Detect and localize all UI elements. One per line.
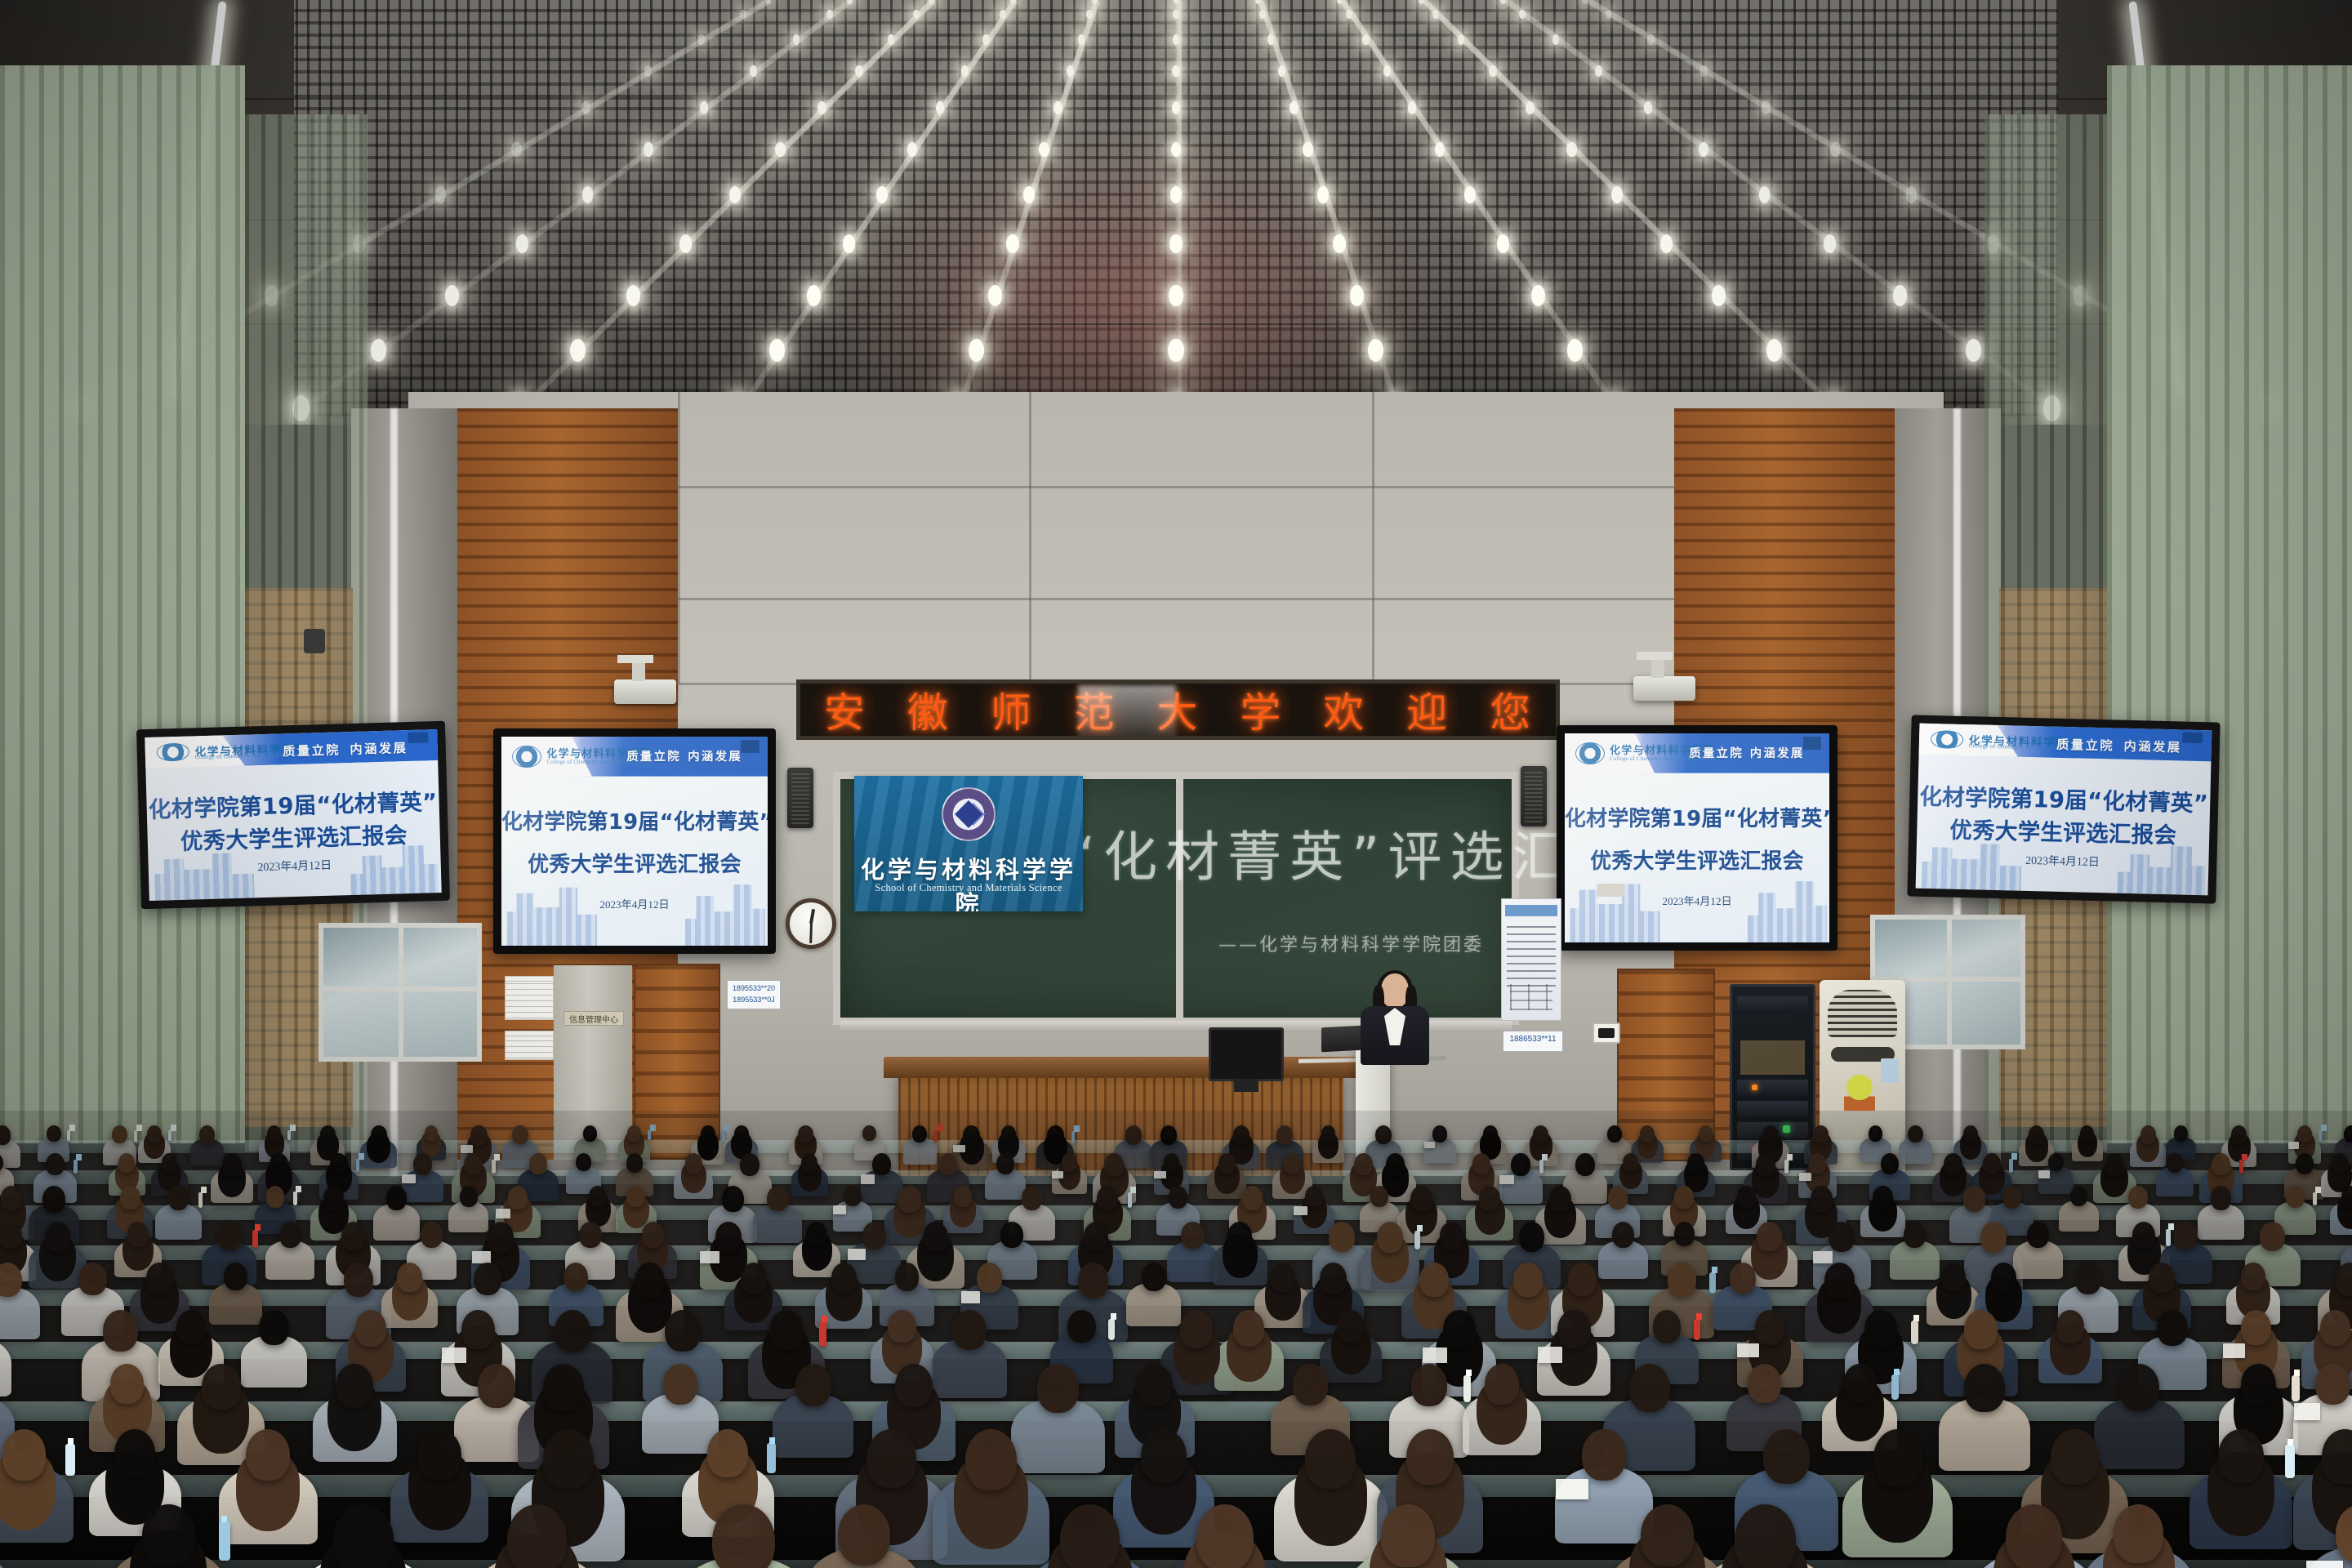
audience-member-head	[46, 1153, 65, 1175]
audience-member-head	[576, 1153, 591, 1171]
audience-member-head	[1419, 1263, 1449, 1297]
audience-member-head	[635, 1263, 665, 1298]
audience-member-head	[507, 1504, 567, 1568]
audience-member-head	[1904, 1222, 1926, 1248]
ceiling-lamp	[1489, 65, 1496, 77]
audience-member-head	[2002, 1186, 2021, 1209]
ceiling-lamp	[793, 34, 800, 45]
clock-hour-hand	[809, 909, 815, 924]
audience-member-head	[1305, 1429, 1356, 1489]
audience-member-head	[2241, 1263, 2265, 1290]
audience-member-head	[45, 1222, 71, 1252]
ceiling-lamp	[729, 186, 741, 203]
audience-member-head	[2, 1429, 46, 1481]
ceiling-lamp	[1317, 186, 1329, 203]
ceiling-lamp	[1078, 34, 1085, 45]
audience-member-head	[740, 1153, 759, 1176]
ceiling-lamp	[511, 142, 521, 157]
audience-member-head	[1668, 1263, 1697, 1297]
ceiling-lamp	[1086, 10, 1092, 19]
ceiling-warm-reflection	[800, 114, 1470, 425]
department-banner-chinese: 化学与材料科学学院	[854, 851, 1083, 911]
audience-member-head	[626, 1153, 643, 1173]
audience-member-head	[2341, 1186, 2352, 1208]
audience-member-head	[1485, 1364, 1520, 1405]
ceiling-lamp	[1172, 65, 1179, 77]
ceiling-lamp	[1699, 142, 1708, 157]
audience-member-head	[1218, 1153, 1236, 1174]
phone-sign-left-line1: 1895533**20	[733, 984, 775, 992]
audience-member-head	[1022, 1186, 1043, 1210]
ceiling-lamp	[626, 285, 640, 306]
audience-member-head	[2297, 1125, 2312, 1143]
ceiling-lamp	[1606, 10, 1611, 19]
audience-member-head	[722, 1186, 744, 1212]
display-right-monitor[interactable]: 化学与材料科学学院 College of Chemistry and Mater…	[1907, 715, 2220, 903]
water-bottle	[293, 1192, 297, 1205]
water-bottle	[168, 1130, 171, 1141]
audience-member-head	[2167, 1153, 2183, 1173]
audience-member-head	[954, 1186, 972, 1207]
audience-member-head	[1983, 1153, 2001, 1174]
slide-header-chip	[408, 732, 428, 743]
display-right-projection[interactable]: 化学与材料科学学院 College of Chemistry and Mater…	[1557, 725, 1837, 951]
audience-member-head	[589, 1186, 607, 1207]
audience-member-head	[862, 1125, 875, 1141]
slide-title-line2: 优秀大学生评选汇报会	[1917, 811, 2210, 851]
audience-member-head	[2332, 1153, 2349, 1173]
water-bottle	[2239, 1160, 2243, 1174]
audience-member-head	[712, 1504, 774, 1568]
audience-member-head	[1305, 1186, 1324, 1207]
wall-speaker-right	[1521, 766, 1547, 826]
audience-member-head	[266, 1186, 285, 1208]
led-scrolling-sign: 安 徽 师 范 大 学 欢 迎 您	[796, 679, 1560, 740]
audience-member-head	[259, 1310, 288, 1345]
ceiling-lamp	[1368, 339, 1383, 363]
projector-right	[1633, 676, 1695, 701]
display-left-monitor[interactable]: 化学与材料科学学院 College of Chemistry and Mater…	[136, 721, 450, 909]
audience-member-head	[2105, 1153, 2124, 1176]
audience-member-head	[267, 1125, 281, 1142]
audience-member-head	[118, 1153, 135, 1173]
ceiling-lamp	[1531, 285, 1545, 306]
audience-member-head	[1233, 1125, 1250, 1145]
wall-speaker-left	[787, 768, 813, 828]
audience-member-head	[555, 1310, 590, 1352]
audience-member-head	[707, 1429, 749, 1477]
audience-member-head	[461, 1310, 495, 1349]
audience-member-head	[2070, 1186, 2088, 1206]
audience-member-head	[168, 1186, 189, 1210]
audience-member-head	[1640, 1125, 1655, 1143]
ceiling-lamp	[907, 142, 917, 157]
audience-member-head	[78, 1263, 106, 1295]
water-bottle	[1071, 1131, 1075, 1143]
department-banner: 化学与材料科学学院 School of Chemistry and Materi…	[854, 776, 1083, 911]
audience-member-head	[1406, 1429, 1454, 1485]
audience-member-head	[898, 1186, 921, 1213]
audience-member-head	[110, 1364, 144, 1404]
audience-member-head	[1762, 1125, 1779, 1145]
ceiling-lamp	[1168, 339, 1183, 363]
audience-member-head	[1293, 1364, 1328, 1405]
audience-member-head	[795, 1364, 831, 1406]
ac-plant-sticker-icon	[1844, 1075, 1875, 1111]
blackboard-chalk-subtitle: ——化学与材料科学学院团委	[1218, 930, 1484, 956]
phone-sign-right: 1886533**11	[1503, 1031, 1563, 1052]
audience-member-head	[162, 1153, 178, 1172]
slide-header-chip	[1803, 737, 1822, 751]
audience-member-head	[715, 1222, 742, 1252]
water-bottle	[2285, 1445, 2295, 1479]
slide-logo-icon	[512, 746, 541, 768]
ceiling-lamp	[913, 10, 919, 19]
audience-member-head	[417, 1429, 461, 1481]
audience-member-head	[543, 1364, 584, 1411]
audience-member-head	[1641, 1504, 1694, 1566]
audience-member-head	[2211, 1186, 2231, 1210]
audience-member-head	[1756, 1153, 1775, 1176]
audience-member-head	[963, 1125, 980, 1145]
audience-member-head	[2056, 1310, 2085, 1343]
audience-member-head	[488, 1222, 514, 1253]
slide-header-chip	[741, 740, 759, 754]
ceiling-lamp	[1000, 10, 1005, 19]
phone-sign-left: 1895533**20 1895533**0J	[727, 980, 781, 1009]
slide-title-line1: 化材学院第19届“化材菁英”	[501, 805, 768, 835]
audience-member-head	[323, 1186, 345, 1210]
slide-header-slogan-1: 质量立院	[2056, 735, 2115, 755]
water-bottle	[65, 1444, 75, 1476]
audience-member-head	[1963, 1125, 1978, 1143]
audience-member-head	[1881, 1153, 1899, 1174]
column-speaker-left	[304, 629, 325, 653]
audience-member-head	[279, 1222, 301, 1248]
water-bottle	[1108, 1319, 1114, 1339]
desk-monitor[interactable]	[1209, 1027, 1284, 1081]
audience-member-head	[1001, 1125, 1016, 1143]
audience-member-head	[888, 1310, 915, 1343]
audience-member-head	[1964, 1310, 1998, 1349]
audience-member-head	[1483, 1125, 1498, 1143]
curtain-left	[0, 65, 245, 1143]
audience-member-head	[478, 1364, 515, 1408]
water-bottle	[134, 1130, 137, 1142]
audience-member-head	[202, 1364, 241, 1410]
handout-paper	[2223, 1343, 2245, 1358]
audience-member-head	[2029, 1125, 2044, 1144]
water-bottle	[2009, 1159, 2013, 1172]
department-seal-icon	[942, 787, 996, 841]
audience-member-head	[1653, 1310, 1682, 1343]
audience-member-head	[701, 1125, 715, 1143]
ceiling-lamp	[1567, 339, 1583, 363]
handout-paper	[2288, 1142, 2299, 1149]
ceiling-lamp	[876, 186, 888, 203]
audience-member-head	[386, 1186, 408, 1210]
led-sign-glare	[1078, 685, 1176, 740]
display-left-projection[interactable]: 化学与材料科学学院 College of Chemistry and Mater…	[493, 728, 776, 954]
slide-title-line1: 化材学院第19届“化材菁英”	[1565, 802, 1829, 832]
handout-paper	[1813, 1251, 1832, 1263]
audience-member-head	[767, 1186, 789, 1211]
water-bottle	[1911, 1321, 1918, 1344]
ceiling-lamp	[1830, 142, 1840, 157]
water-bottle	[1539, 1160, 1543, 1174]
audience-member-head	[1674, 1186, 1694, 1209]
audience-member-head	[512, 1125, 528, 1144]
audience-member-head	[344, 1263, 373, 1297]
ceiling-lamp	[1006, 234, 1018, 253]
ceiling-lamp	[644, 142, 653, 157]
audience-member-head	[838, 1504, 890, 1566]
audience-member-head	[1386, 1153, 1405, 1175]
ceiling-lamp	[1170, 186, 1182, 203]
water-bottle	[73, 1160, 78, 1174]
audience-member-head	[2260, 1222, 2284, 1251]
audience-member-head	[2075, 1263, 2102, 1294]
handout-paper	[1423, 1347, 1447, 1363]
ceiling-lamp	[679, 234, 692, 253]
water-bottle	[1709, 1272, 1716, 1294]
audience-member-head	[47, 1125, 60, 1142]
water-bottle	[198, 1192, 203, 1208]
ac-grille	[1828, 990, 1897, 1037]
ceiling-lamp	[775, 142, 785, 157]
water-bottle	[2292, 1375, 2299, 1401]
ceiling-lamp	[1906, 186, 1918, 203]
audience-member-head	[142, 1504, 195, 1566]
audience-member-head	[508, 1186, 528, 1209]
audience-member-head	[114, 1429, 155, 1477]
audience-member-head	[1137, 1364, 1173, 1406]
audience-member-head	[1687, 1153, 1704, 1173]
audience-member-head	[1674, 1222, 1695, 1246]
audience-member-head	[543, 1429, 594, 1489]
water-bottle	[934, 1130, 938, 1142]
audience-member-head	[1991, 1263, 2016, 1293]
water-bottle	[1784, 1160, 1788, 1174]
audience-member-head	[336, 1364, 373, 1408]
audience-member-head	[1513, 1263, 1543, 1297]
handout-paper	[848, 1249, 866, 1260]
audience-member-head	[1864, 1310, 1896, 1347]
ceiling-lamp	[1566, 142, 1576, 157]
handout-paper	[861, 1174, 875, 1183]
ceiling-lamp	[445, 285, 459, 306]
audience-member-head	[1227, 1222, 1252, 1250]
audience-member-head	[1125, 1125, 1142, 1145]
window-left	[318, 923, 482, 1062]
audience-member-head	[1511, 1153, 1530, 1176]
audience-member-head	[862, 1222, 886, 1249]
handout-paper	[2306, 1561, 2343, 1568]
ac-badge	[1881, 1058, 1899, 1083]
audience-member-head	[1078, 1263, 1109, 1298]
ceiling-lamp	[1350, 285, 1364, 306]
audience-member-head	[127, 1222, 149, 1247]
water-bottle	[287, 1130, 291, 1141]
water-bottle	[819, 1321, 826, 1347]
ceiling-lamp	[1712, 285, 1726, 306]
ceiling-lamp	[1611, 186, 1623, 203]
audience-member-head	[1320, 1263, 1347, 1294]
audience-member-head	[1607, 1125, 1622, 1143]
audience-member-head	[1519, 1222, 1545, 1252]
phone-sign-left-line2: 1895533**0J	[733, 996, 775, 1004]
slide-header-chip	[2182, 733, 2203, 744]
audience-member-head	[1321, 1125, 1336, 1143]
audience-member-head	[1735, 1504, 1796, 1568]
audience-member-head	[320, 1125, 336, 1143]
slide-logo-icon	[1575, 742, 1605, 764]
audience-member-head	[872, 1153, 891, 1175]
ceiling-lamp	[988, 285, 1002, 306]
audience-member-head	[1824, 1263, 1855, 1298]
curtain-right	[2107, 65, 2352, 1143]
audience-member-head	[583, 1125, 597, 1142]
water-bottle	[767, 1443, 776, 1473]
audience-member-head	[626, 1186, 644, 1207]
audience-member-head	[1097, 1186, 1118, 1210]
audience-member-head	[952, 1310, 986, 1350]
audience-member-head	[1084, 1222, 1108, 1250]
paper-notice-left-lower	[505, 1031, 554, 1060]
water-bottle	[356, 1159, 360, 1172]
audience-member-head	[176, 1310, 206, 1344]
audience-member-head	[397, 1263, 422, 1292]
ceiling-lamp	[1893, 285, 1907, 306]
audience-seating	[0, 1111, 2352, 1568]
audience-member-head	[222, 1153, 241, 1176]
ceiling-lamp	[1023, 186, 1035, 203]
water-bottle	[2313, 1192, 2317, 1206]
audience-member-head	[563, 1263, 588, 1291]
lecture-hall-photo: 安 徽 师 范 大 学 欢 迎 您 第19届“化材菁英”评选汇报会 ——化学与材…	[0, 0, 2352, 1568]
notice-board-right	[1501, 898, 1561, 1021]
projector-left	[614, 679, 676, 704]
audience-member-head	[474, 1263, 501, 1295]
audience-member-head	[1142, 1263, 1166, 1291]
audience-member-head	[1276, 1125, 1294, 1145]
audience-member-head	[1037, 1364, 1079, 1413]
card-reader-right[interactable]	[1592, 1022, 1620, 1044]
audience-member-head	[103, 1310, 138, 1352]
slide-header-slogan-2: 内涵发展	[1750, 744, 1805, 761]
audience-member-head	[0, 1125, 11, 1145]
audience-member-head	[1432, 1125, 1447, 1143]
audience-member-head	[1549, 1186, 1572, 1212]
audience-member-head	[1873, 1429, 1922, 1487]
ceiling-lamp	[1824, 234, 1836, 253]
audience-member-head	[1472, 1153, 1490, 1174]
audience-member-head	[1169, 1186, 1188, 1209]
wall-sensor-right	[1597, 884, 1624, 897]
audience-member-head	[2051, 1429, 2098, 1485]
audience-member-head	[977, 1263, 1002, 1293]
ceiling-lamp	[371, 339, 386, 363]
slide-title-line2: 优秀大学生评选汇报会	[147, 816, 440, 857]
audience-member-head	[2320, 1310, 2350, 1346]
water-bottle	[1694, 1319, 1700, 1340]
audience-member-head	[421, 1222, 443, 1248]
handout-paper	[1052, 1171, 1063, 1178]
ceiling-lamp	[982, 34, 989, 45]
audience-member-head	[866, 1429, 916, 1488]
audience-member-head	[1811, 1186, 1833, 1212]
audience-member-head	[1141, 1429, 1187, 1482]
handout-paper	[700, 1251, 719, 1263]
audience-member-head	[2080, 1125, 2094, 1142]
audience-member-head	[2048, 1153, 2064, 1171]
audience-member-head	[938, 1153, 957, 1175]
slide-title-line2: 优秀大学生评选汇报会	[1565, 844, 1829, 875]
clock-minute-hand	[809, 924, 813, 943]
audience-member-head	[806, 1222, 827, 1246]
audience-member-head	[1242, 1186, 1263, 1210]
audience-member-head	[1869, 1125, 1882, 1142]
ceiling-lamp	[843, 234, 855, 253]
ceiling-lamp	[855, 65, 862, 77]
ceiling-lamp	[570, 339, 586, 363]
audience-member-head	[333, 1504, 394, 1568]
handout-paper	[1556, 1479, 1588, 1500]
door-plate-left: 信息管理中心	[563, 1011, 624, 1026]
audience-member-head	[663, 1364, 697, 1405]
audience-member-head	[1737, 1186, 1756, 1208]
audience-member-head	[844, 1186, 862, 1206]
ceiling-lamp	[1362, 34, 1369, 45]
audience-member-head	[341, 1222, 366, 1250]
audience-member-head	[217, 1222, 242, 1250]
audience-member-head	[1755, 1310, 1784, 1345]
wall-clock	[786, 898, 836, 949]
audience-member-head	[1623, 1153, 1638, 1172]
slide-title-line2: 优秀大学生评选汇报会	[501, 848, 768, 878]
audience-member-head	[741, 1263, 767, 1294]
audience-member-head	[1608, 1186, 1628, 1209]
audience-member-head	[1908, 1125, 1922, 1143]
audience-member-head	[2231, 1125, 2247, 1144]
ceiling-lamp	[1552, 34, 1559, 45]
slide-header-slogan-1: 质量立院	[626, 747, 681, 764]
audience-member-head	[1181, 1222, 1204, 1249]
handout-paper	[1294, 1206, 1307, 1215]
ceiling-lamp	[1660, 234, 1673, 253]
audience-member-head	[147, 1125, 162, 1143]
audience-member-head	[371, 1125, 387, 1144]
ceiling-lamp	[1435, 142, 1445, 157]
audience-member-head	[1557, 1310, 1590, 1348]
audience-member-head	[112, 1125, 127, 1143]
audience-member-head	[1411, 1364, 1447, 1406]
audience-member-head	[1410, 1186, 1432, 1211]
audience-member-head	[199, 1125, 215, 1143]
audience-member-head	[1533, 1125, 1548, 1143]
ceiling-lamp	[516, 234, 528, 253]
audience-member-head	[1354, 1153, 1373, 1175]
audience-member-head	[1337, 1310, 1365, 1343]
audience-member-head	[2174, 1125, 2188, 1142]
audience-member-head	[2241, 1364, 2276, 1405]
audience-member-head	[1000, 1222, 1022, 1248]
handout-paper	[1424, 1142, 1435, 1148]
water-bottle	[492, 1160, 496, 1174]
ceiling-lamp	[1259, 10, 1265, 19]
audience-member-head	[246, 1429, 290, 1481]
ceiling-lamp	[1303, 142, 1312, 157]
